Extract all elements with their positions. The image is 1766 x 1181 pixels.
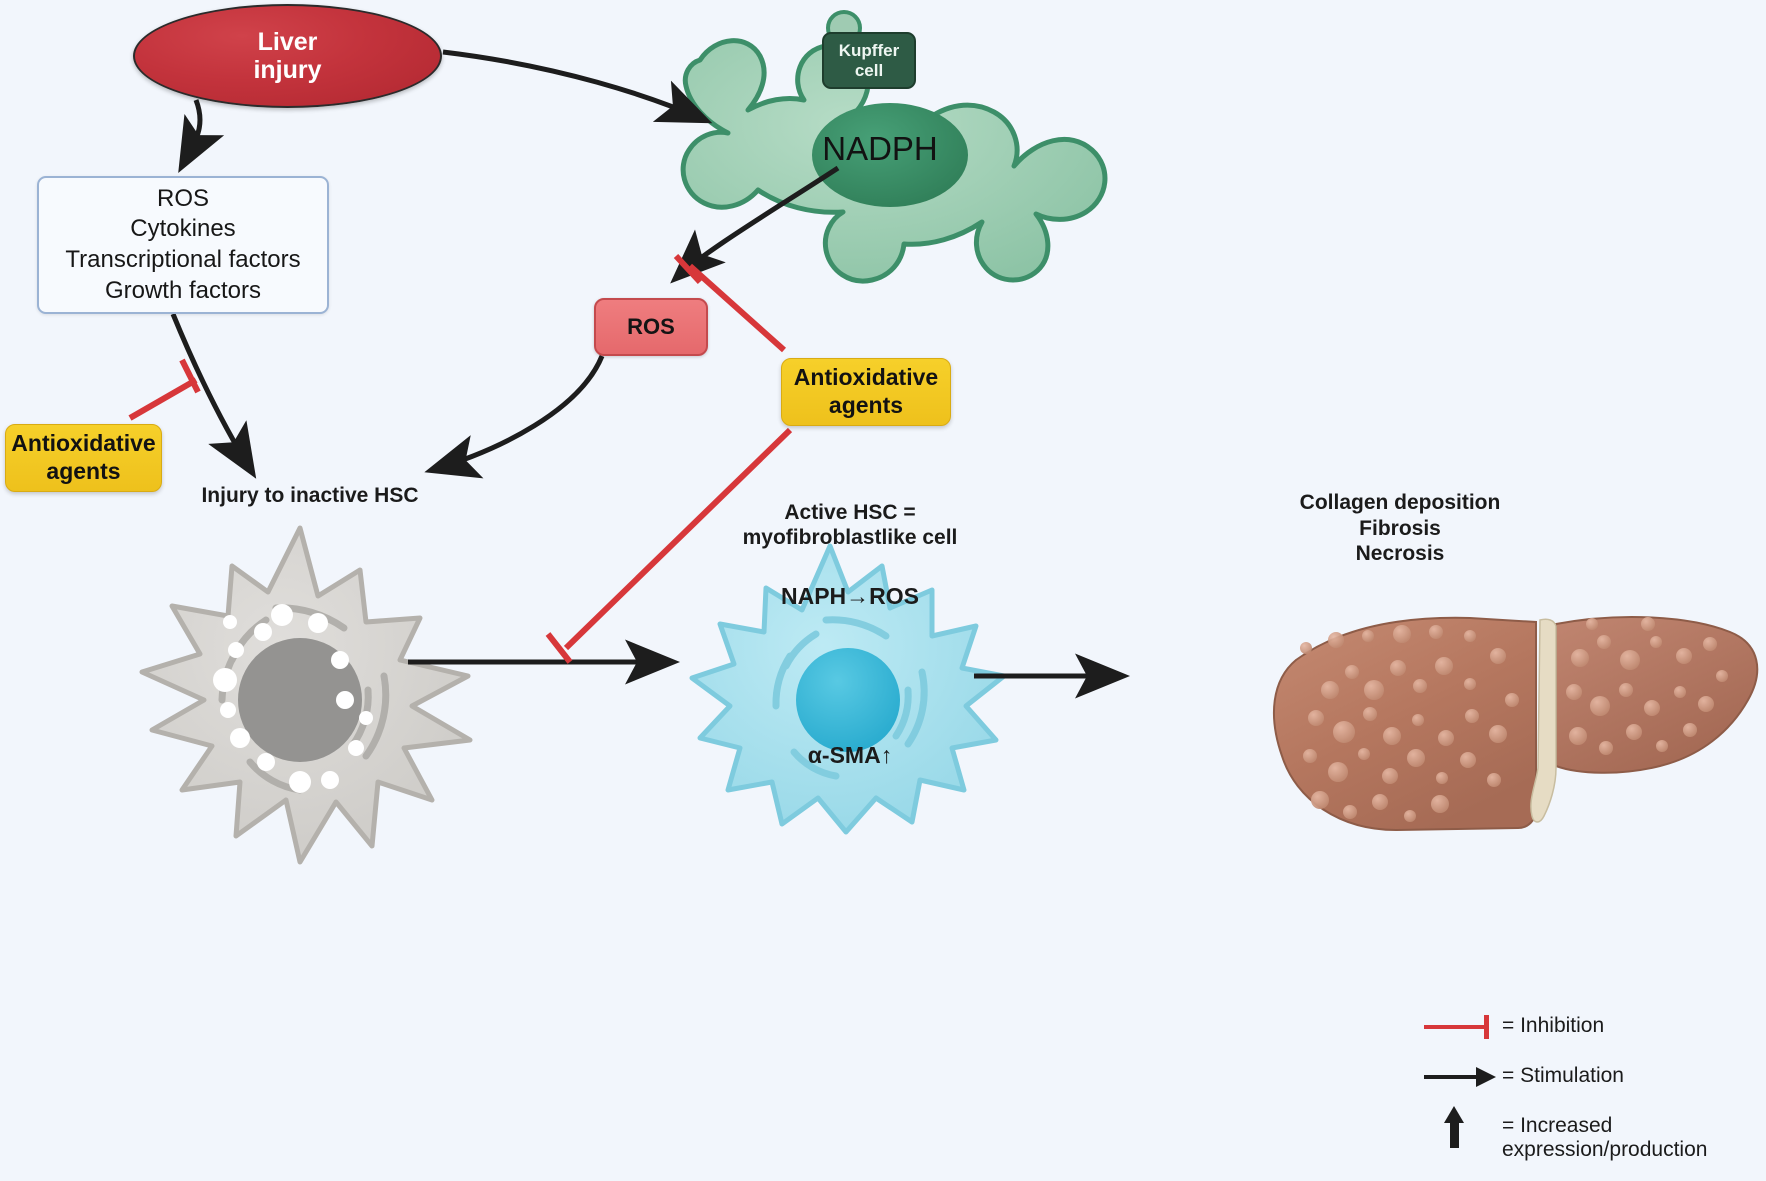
- liver-organ-illustration: [1274, 617, 1757, 830]
- stimulation-arrow-icon: [1424, 1062, 1502, 1092]
- diagram-canvas: Liver injury ROS Cytokines Transcription…: [0, 0, 1766, 1168]
- active-hsc-caption-line-1: Active HSC =: [690, 500, 1010, 525]
- edge-antiox-left-inhibits: [130, 380, 196, 418]
- outcome-line-necrosis: Necrosis: [1180, 541, 1620, 567]
- liver-injury-node[interactable]: Liver injury: [133, 4, 442, 108]
- edge-ros-to-inactive-hsc: [432, 356, 602, 470]
- kupffer-badge-line-2: cell: [855, 61, 883, 80]
- legend-item-stimulation: = Stimulation: [1424, 1062, 1754, 1092]
- antioxidative-agents-left-node[interactable]: Antioxidative agents: [5, 424, 162, 492]
- legend: = Inhibition = Stimulation = Increased e…: [1424, 1012, 1754, 1181]
- mediators-node[interactable]: ROS Cytokines Transcriptional factors Gr…: [37, 176, 329, 314]
- active-hsc-nucleus: [796, 648, 900, 752]
- mediator-line-transcriptional-factors: Transcriptional factors: [65, 245, 300, 276]
- inactive-hsc-illustration: [142, 528, 470, 862]
- ros-node[interactable]: ROS: [594, 298, 708, 356]
- liver-injury-line-1: Liver: [258, 28, 318, 56]
- antiox-left-line-1: Antioxidative: [11, 430, 155, 456]
- kupffer-badge-line-1: Kupffer: [839, 41, 899, 60]
- legend-item-inhibition: = Inhibition: [1424, 1012, 1754, 1042]
- legend-increased-line-2: expression/production: [1502, 1138, 1707, 1162]
- antiox-right-line-1: Antioxidative: [794, 364, 938, 390]
- legend-item-increased-expression: = Increased expression/production: [1424, 1112, 1754, 1161]
- up-arrow-icon: [1424, 1112, 1502, 1142]
- liver-outcome-caption: Collagen deposition Fibrosis Necrosis: [1180, 490, 1620, 567]
- active-hsc-caption-line-2: myofibroblastlike cell: [690, 525, 1010, 550]
- naph-to-ros-label: NAPH→ROS: [700, 583, 1000, 610]
- injury-to-inactive-hsc-caption: Injury to inactive HSC: [150, 484, 470, 508]
- legend-increased-line-1: = Increased: [1502, 1114, 1707, 1138]
- outcome-line-collagen: Collagen deposition: [1180, 490, 1620, 516]
- antioxidative-agents-right-node[interactable]: Antioxidative agents: [781, 358, 951, 426]
- liver-injury-line-2: injury: [253, 56, 321, 84]
- antiox-left-line-2: agents: [46, 458, 120, 484]
- active-hsc-caption: Active HSC = myofibroblastlike cell: [690, 500, 1010, 550]
- outcome-line-fibrosis: Fibrosis: [1180, 516, 1620, 542]
- legend-label-stimulation: = Stimulation: [1502, 1062, 1624, 1088]
- antiox-right-line-2: agents: [829, 392, 903, 418]
- nadph-label: NADPH: [800, 130, 960, 168]
- mediator-line-cytokines: Cytokines: [65, 214, 300, 245]
- inhibition-bar-icon: [1424, 1012, 1502, 1042]
- kupffer-cell-badge[interactable]: Kupffer cell: [822, 32, 916, 89]
- legend-label-increased-expression: = Increased expression/production: [1502, 1112, 1707, 1161]
- legend-label-inhibition: = Inhibition: [1502, 1012, 1604, 1038]
- edge-mediators-to-inactive-hsc: [173, 314, 252, 472]
- edge-injury-to-mediators: [182, 100, 200, 166]
- mediator-line-ros: ROS: [65, 184, 300, 215]
- alpha-sma-label: α-SMA↑: [700, 742, 1000, 769]
- mediator-line-growth-factors: Growth factors: [65, 276, 300, 307]
- edge-injury-to-kupffer: [443, 52, 705, 120]
